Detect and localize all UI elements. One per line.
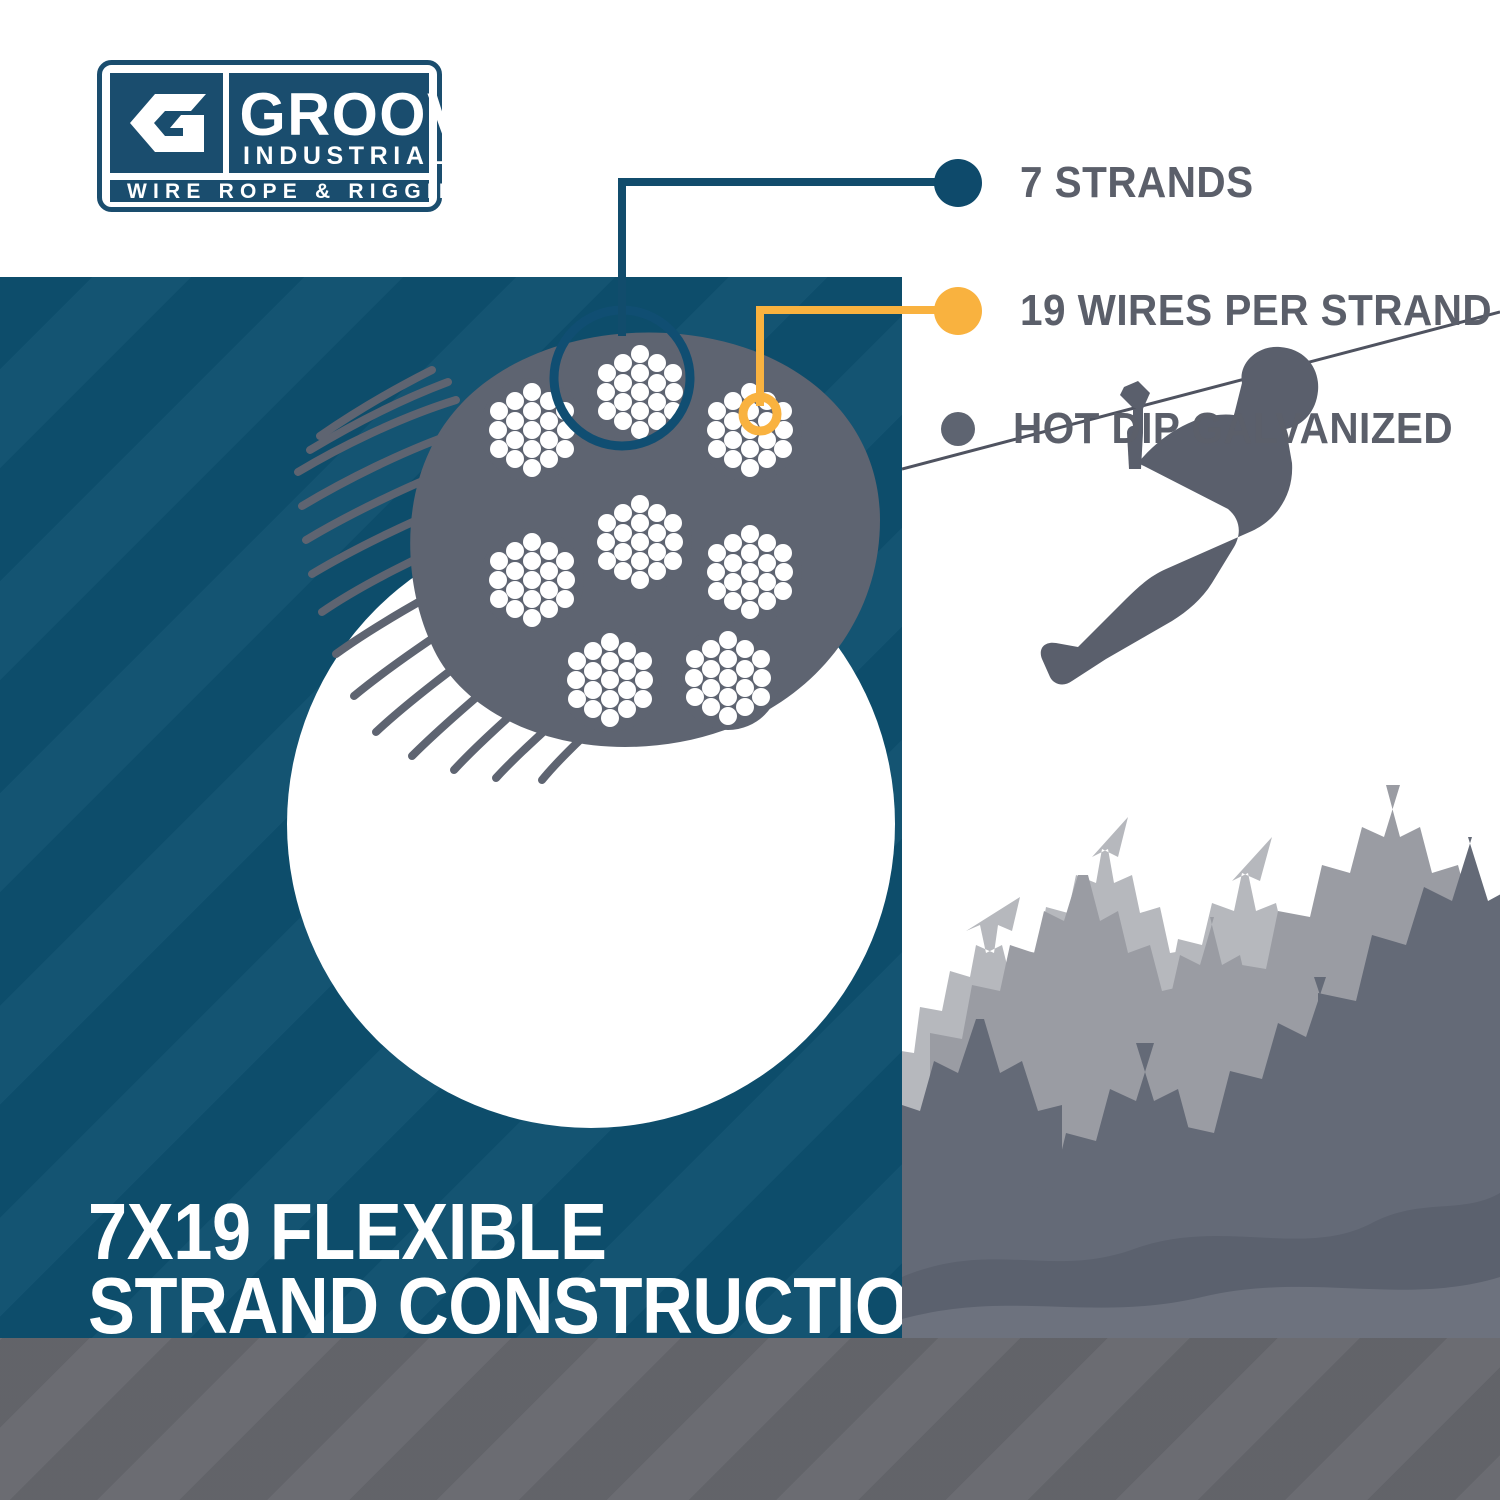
headline-line-2: STRAND CONSTRUCTION — [88, 1269, 783, 1338]
callout-7-strands[interactable]: 7 STRANDS — [934, 158, 1274, 208]
callout-19-wires[interactable]: 19 WIRES PER STRAND — [934, 286, 1500, 336]
logo-name-industrial: INDUSTRIAL — [243, 142, 442, 170]
headline-line-1: 7X19 FLEXIBLE — [88, 1195, 783, 1269]
feature-headline: 7X19 FLEXIBLE STRAND CONSTRUCTION — [88, 1195, 783, 1338]
callout-label-7-strands: 7 STRANDS — [1020, 158, 1254, 208]
infographic-canvas: 7X19 FLEXIBLE STRAND CONSTRUCTION Our ai… — [0, 0, 1500, 1500]
wire-rope-cutaway-illustration — [280, 250, 900, 850]
brand-logo[interactable]: GROOVE INDUSTRIAL WIRE ROPE & RIGGING — [97, 60, 442, 212]
callout-label-19-wires: 19 WIRES PER STRAND — [1020, 286, 1492, 336]
footer-band — [0, 1338, 1500, 1500]
logo-monogram-tile — [110, 73, 223, 173]
callout-label-hot-dip: HOT DIP GALVANIZED — [1013, 404, 1453, 454]
logo-name-groove: GROOVE — [240, 81, 442, 148]
band-stripe-texture — [0, 1338, 1500, 1500]
callout-dot-gray — [941, 412, 975, 446]
callout-dot-blue — [934, 159, 982, 207]
callout-hot-dip-galvanized[interactable]: HOT DIP GALVANIZED — [941, 404, 1491, 454]
callout-dot-amber — [934, 287, 982, 335]
logo-tagline: WIRE ROPE & RIGGING — [127, 180, 442, 203]
groove-industrial-logo: GROOVE INDUSTRIAL WIRE ROPE & RIGGING — [97, 60, 442, 212]
